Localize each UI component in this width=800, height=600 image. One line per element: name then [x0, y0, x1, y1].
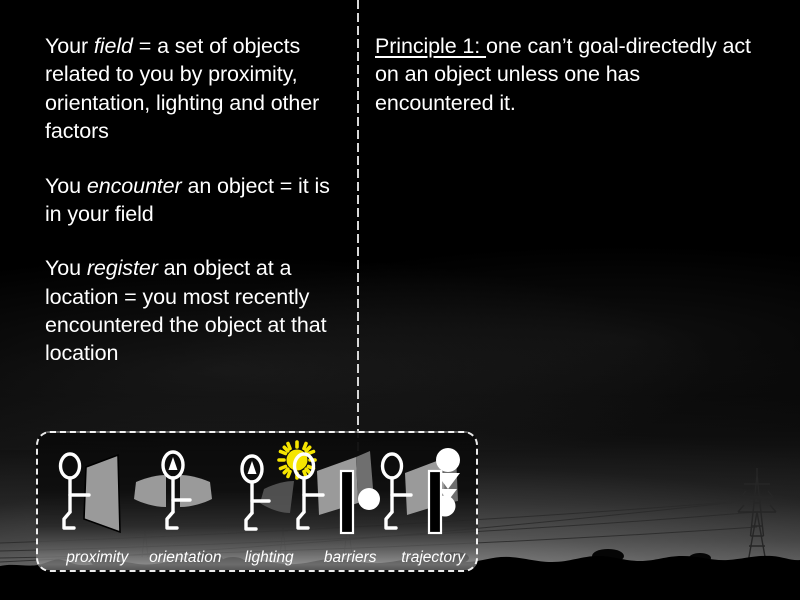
right-text-column: Principle 1: one can’t goal-directedly a…	[375, 32, 760, 117]
diagram-label-barriers: barriers	[310, 549, 390, 567]
slide-canvas: Your field = a set of objects related to…	[0, 0, 800, 600]
diagram-label-lighting: lighting	[228, 549, 310, 567]
diagram-labels-row: proximity orientation lighting barriers …	[38, 549, 476, 567]
diagram-label-orientation: orientation	[142, 549, 228, 567]
orientation-icon	[134, 452, 212, 528]
diagram-label-trajectory: trajectory	[390, 549, 476, 567]
run-emphasis-encounter: encounter	[87, 174, 182, 198]
run-text: You	[45, 256, 87, 280]
crescent-moon-icon	[211, 451, 224, 477]
paragraph-register: You register an object at a location = y…	[45, 254, 345, 368]
principle-heading: Principle 1:	[375, 34, 486, 58]
run-text: Your	[45, 34, 94, 58]
diagram-label-proximity: proximity	[38, 549, 142, 567]
run-text: You	[45, 174, 87, 198]
proximity-icon	[61, 454, 121, 532]
paragraph-encounter: You encounter an object = it is in your …	[45, 172, 345, 229]
left-text-column: Your field = a set of objects related to…	[45, 32, 345, 368]
run-emphasis-field: field	[94, 34, 139, 58]
field-factors-diagram-panel: proximity orientation lighting barriers …	[36, 431, 478, 572]
object-start	[436, 448, 460, 472]
trajectory-icon	[383, 448, 461, 533]
column-divider	[357, 0, 359, 452]
run-emphasis-register: register	[87, 256, 158, 280]
occluded-object	[358, 488, 380, 510]
paragraph-principle-1: Principle 1: one can’t goal-directedly a…	[375, 32, 760, 117]
barrier-bar	[429, 471, 441, 533]
barriers-icon	[295, 451, 381, 533]
background-foreground-field	[0, 575, 800, 600]
barrier-bar	[341, 471, 353, 533]
paragraph-field: Your field = a set of objects related to…	[45, 32, 345, 146]
